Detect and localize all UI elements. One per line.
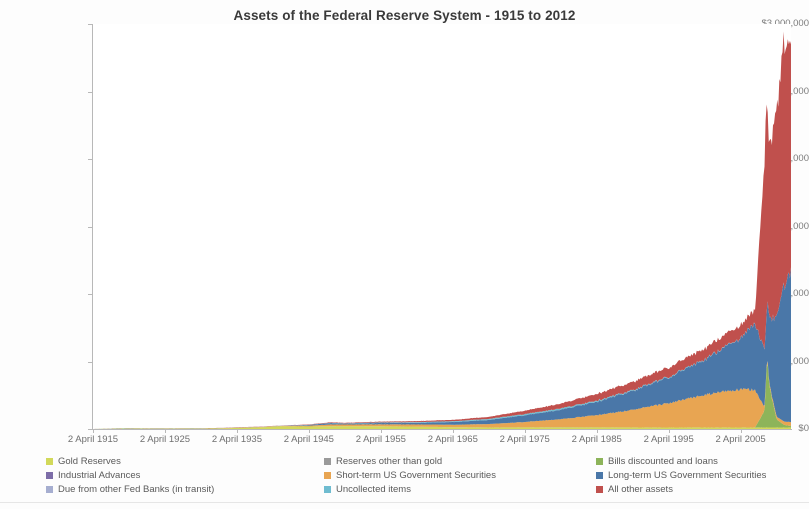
legend-color-swatch bbox=[596, 472, 603, 479]
legend-item[interactable]: Bills discounted and loans bbox=[596, 456, 718, 467]
legend-item[interactable]: Reserves other than gold bbox=[324, 456, 442, 467]
legend-item-label: Reserves other than gold bbox=[336, 456, 442, 467]
x-axis-tick-mark bbox=[381, 429, 382, 433]
legend-item[interactable]: Short-term US Government Securities bbox=[324, 470, 496, 481]
x-axis-tick-mark bbox=[93, 429, 94, 433]
x-axis-tick-label: 2 April 1985 bbox=[572, 434, 622, 445]
legend-item-label: Due from other Fed Banks (in transit) bbox=[58, 484, 214, 495]
legend-item[interactable]: Due from other Fed Banks (in transit) bbox=[46, 484, 214, 495]
legend-item-label: Short-term US Government Securities bbox=[336, 470, 496, 481]
x-axis-tick-label: 2 April 1955 bbox=[356, 434, 406, 445]
legend-item[interactable]: Uncollected items bbox=[324, 484, 411, 495]
stacked-area-series-group bbox=[93, 24, 791, 429]
x-axis-tick-mark bbox=[597, 429, 598, 433]
chart-title: Assets of the Federal Reserve System - 1… bbox=[0, 8, 809, 23]
legend-item-label: Uncollected items bbox=[336, 484, 411, 495]
x-axis-line bbox=[92, 429, 792, 430]
x-axis-tick-label: 2 April 1945 bbox=[284, 434, 334, 445]
chart-container: Assets of the Federal Reserve System - 1… bbox=[0, 0, 809, 509]
legend-color-swatch bbox=[46, 486, 53, 493]
x-axis-tick-mark bbox=[669, 429, 670, 433]
x-axis-tick-label: 2 April 1965 bbox=[428, 434, 478, 445]
legend-item-label: Long-term US Government Securities bbox=[608, 470, 766, 481]
legend-item-label: Industrial Advances bbox=[58, 470, 140, 481]
legend-item-label: All other assets bbox=[608, 484, 673, 495]
legend-item[interactable]: Long-term US Government Securities bbox=[596, 470, 766, 481]
x-axis-tick-mark bbox=[309, 429, 310, 433]
x-axis-tick-mark bbox=[237, 429, 238, 433]
x-axis-tick-mark bbox=[741, 429, 742, 433]
legend-color-swatch bbox=[324, 458, 331, 465]
x-axis-tick-label: 2 April 1935 bbox=[212, 434, 262, 445]
legend-color-swatch bbox=[46, 472, 53, 479]
legend-divider bbox=[0, 502, 809, 503]
x-axis-tick-label: 2 April 1915 bbox=[68, 434, 118, 445]
x-axis-tick-mark bbox=[525, 429, 526, 433]
x-axis-tick-label: 2 April 1975 bbox=[500, 434, 550, 445]
legend-item[interactable]: Gold Reserves bbox=[46, 456, 121, 467]
legend-item[interactable]: Industrial Advances bbox=[46, 470, 140, 481]
legend-color-swatch bbox=[596, 486, 603, 493]
x-axis-tick-mark bbox=[453, 429, 454, 433]
x-axis-tick-mark bbox=[165, 429, 166, 433]
legend-item-label: Gold Reserves bbox=[58, 456, 121, 467]
legend-color-swatch bbox=[46, 458, 53, 465]
legend-item-label: Bills discounted and loans bbox=[608, 456, 718, 467]
legend-color-swatch bbox=[324, 486, 331, 493]
legend-color-swatch bbox=[324, 472, 331, 479]
x-axis-tick-label: 2 April 1925 bbox=[140, 434, 190, 445]
chart-legend: Gold ReservesReserves other than goldBil… bbox=[0, 455, 809, 501]
legend-item[interactable]: All other assets bbox=[596, 484, 673, 495]
plot-area bbox=[93, 24, 791, 429]
x-axis-tick-label: 2 April 2005 bbox=[716, 434, 766, 445]
legend-color-swatch bbox=[596, 458, 603, 465]
x-axis-tick-label: 2 April 1995 bbox=[644, 434, 694, 445]
